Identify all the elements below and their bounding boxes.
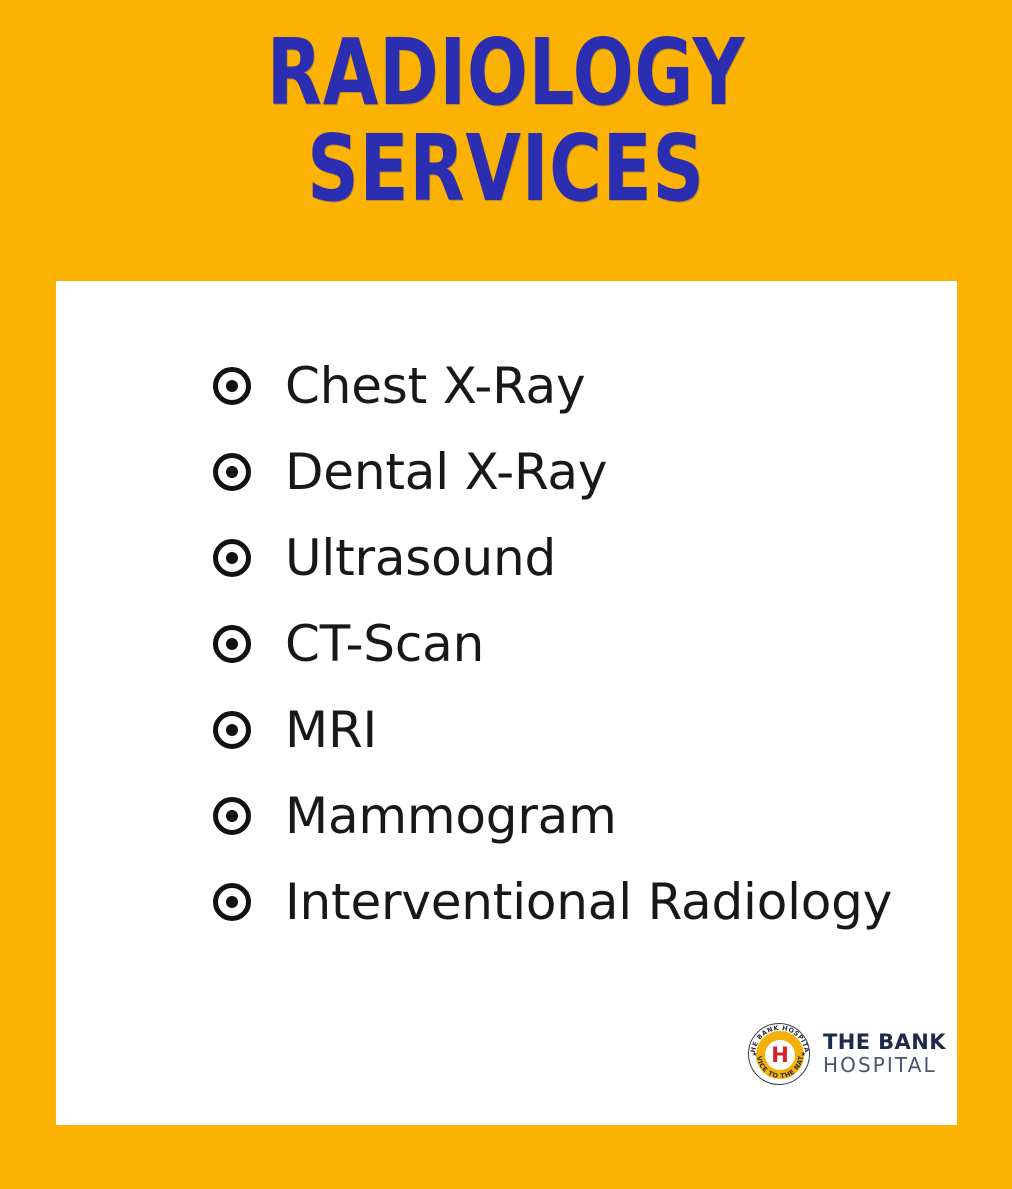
logo-wordmark-line-2: HOSPITAL — [823, 1054, 946, 1076]
logo-wordmark: THE BANK HOSPITAL — [823, 1031, 946, 1076]
radio-dot-icon — [213, 539, 251, 577]
list-item: CT-Scan — [213, 601, 892, 687]
list-item: Mammogram — [213, 773, 892, 859]
service-label: Interventional Radiology — [285, 877, 892, 927]
seal-core: H — [765, 1040, 795, 1070]
list-item: Ultrasound — [213, 515, 892, 601]
service-label: MRI — [285, 705, 377, 755]
content-card: Chest X-Ray Dental X-Ray Ultrasound CT-S… — [56, 281, 957, 1125]
radio-dot-icon — [213, 453, 251, 491]
service-list: Chest X-Ray Dental X-Ray Ultrasound CT-S… — [213, 343, 892, 945]
seal-star-right-icon: ★ — [801, 1052, 806, 1058]
logo-wordmark-line-1: THE BANK — [823, 1031, 946, 1054]
page-title: RADIOLOGY SERVICES — [0, 28, 1012, 214]
seal-star-left-icon: ★ — [752, 1052, 757, 1058]
page-title-line-1: RADIOLOGY — [111, 28, 900, 118]
service-label: CT-Scan — [285, 619, 484, 669]
list-item: Dental X-Ray — [213, 429, 892, 515]
page-title-line-2: SERVICES — [111, 124, 900, 214]
hospital-logo: THE BANK HOSPITAL SERVICE TO THE NATION … — [748, 1023, 946, 1085]
radio-dot-icon — [213, 883, 251, 921]
radio-dot-icon — [213, 797, 251, 835]
list-item: Chest X-Ray — [213, 343, 892, 429]
service-label: Ultrasound — [285, 533, 556, 583]
list-item: Interventional Radiology — [213, 859, 892, 945]
radiology-services-poster: { "poster": { "background_color": "#FBB2… — [0, 0, 1012, 1189]
radio-dot-icon — [213, 367, 251, 405]
service-label: Dental X-Ray — [285, 447, 607, 497]
list-item: MRI — [213, 687, 892, 773]
hospital-seal-icon: THE BANK HOSPITAL SERVICE TO THE NATION … — [748, 1023, 810, 1085]
radio-dot-icon — [213, 625, 251, 663]
radio-dot-icon — [213, 711, 251, 749]
service-label: Mammogram — [285, 791, 617, 841]
seal-monogram: H — [771, 1045, 789, 1066]
service-label: Chest X-Ray — [285, 361, 585, 411]
